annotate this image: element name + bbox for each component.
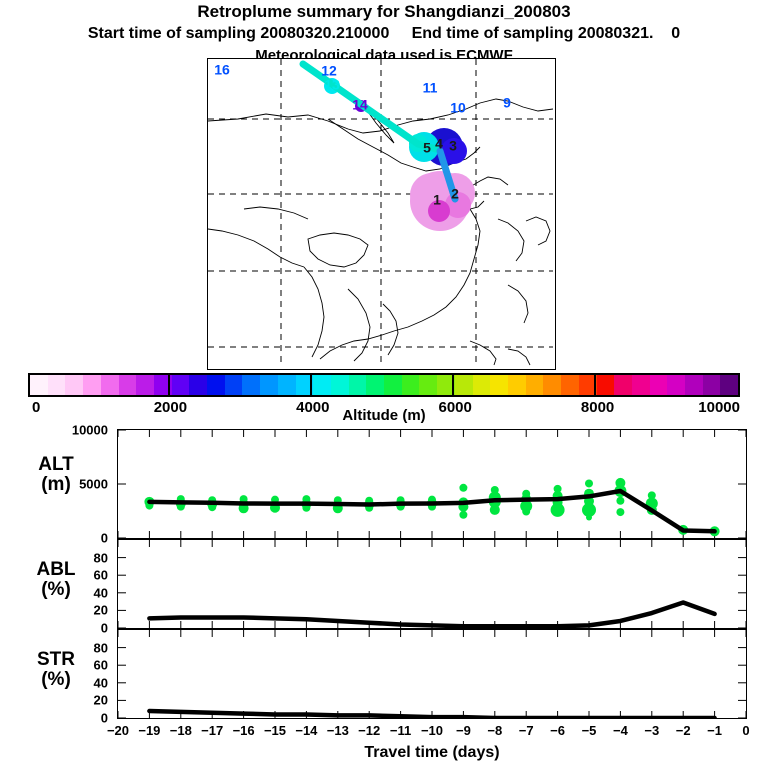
scatter-point: [551, 503, 565, 517]
colorbar-segment-0: [30, 375, 48, 395]
alt-ytick-0: 0: [62, 531, 108, 546]
colorbar-segment-33: [614, 375, 632, 395]
xtick--15: −15: [264, 723, 286, 738]
xtick--17: −17: [201, 723, 223, 738]
str-ytick-40: 40: [62, 675, 108, 690]
colorbar-sep: [168, 373, 170, 397]
scatter-point: [490, 505, 500, 515]
scatter-point: [586, 514, 592, 520]
map-marker-3[interactable]: 3: [449, 138, 457, 154]
scatter-point: [459, 511, 467, 519]
colorbar-segment-18: [349, 375, 367, 395]
xtick--16: −16: [233, 723, 255, 738]
xtick-0: 0: [742, 723, 749, 738]
colorbar-segment-3: [83, 375, 101, 395]
map-marker-14[interactable]: 14: [352, 97, 368, 113]
colorbar-segment-5: [119, 375, 137, 395]
map-marker-16[interactable]: 16: [214, 62, 230, 78]
alt-plot-panel[interactable]: [117, 429, 747, 539]
colorbar-segment-10: [207, 375, 225, 395]
colorbar-axis-label: Altitude (m): [0, 407, 768, 424]
colorbar-segment-2: [65, 375, 83, 395]
abl-ytick-0: 0: [62, 621, 108, 636]
scatter-point: [616, 497, 624, 505]
colorbar-segment-20: [384, 375, 402, 395]
str-ytick-0: 0: [62, 711, 108, 726]
page-title: Retroplume summary for Shangdianzi_20080…: [0, 2, 768, 22]
colorbar-gradient: [28, 373, 740, 397]
colorbar-segment-36: [667, 375, 685, 395]
map-marker-4[interactable]: 4: [435, 136, 443, 152]
scatter-point: [585, 479, 593, 487]
colorbar-segment-8: [172, 375, 190, 395]
colorbar-segment-34: [632, 375, 650, 395]
scatter-point: [616, 508, 624, 516]
colorbar-segment-26: [490, 375, 508, 395]
abl-ytick-20: 20: [62, 603, 108, 618]
colorbar-segment-16: [313, 375, 331, 395]
abl-ytick-60: 60: [62, 568, 108, 583]
xtick--2: −2: [676, 723, 691, 738]
colorbar-segment-13: [260, 375, 278, 395]
colorbar-segment-30: [561, 375, 579, 395]
xtick--20: −20: [107, 723, 129, 738]
xaxis-label: Travel time (days): [117, 744, 747, 762]
map-gridlines: [208, 59, 553, 367]
xtick--4: −4: [613, 723, 628, 738]
str-axis-ticks: [118, 630, 746, 718]
colorbar-segment-9: [189, 375, 207, 395]
abl-ytick-40: 40: [62, 585, 108, 600]
colorbar-sep: [594, 373, 596, 397]
colorbar-segment-14: [278, 375, 296, 395]
str-ytick-20: 20: [62, 693, 108, 708]
colorbar-segment-25: [473, 375, 491, 395]
colorbar-segment-29: [543, 375, 561, 395]
xtick--11: −11: [390, 723, 411, 738]
colorbar-sep: [310, 373, 312, 397]
map-marker-13[interactable]: 13: [324, 77, 340, 93]
str-ytick-60: 60: [62, 658, 108, 673]
map-marker-1[interactable]: 1: [433, 192, 441, 208]
abl-plot-panel[interactable]: [117, 539, 747, 629]
xtick--18: −18: [170, 723, 192, 738]
map-marker-9[interactable]: 9: [503, 95, 511, 111]
colorbar-segment-12: [242, 375, 260, 395]
colorbar-segment-6: [136, 375, 154, 395]
colorbar-segment-21: [402, 375, 420, 395]
xtick--1: −1: [707, 723, 722, 738]
xtick--3: −3: [644, 723, 659, 738]
colorbar-segment-22: [419, 375, 437, 395]
xtick--12: −12: [358, 723, 380, 738]
colorbar-segment-38: [703, 375, 721, 395]
map-marker-2[interactable]: 2: [451, 186, 459, 202]
map-marker-11[interactable]: 11: [423, 80, 438, 96]
xtick--14: −14: [295, 723, 317, 738]
xtick--19: −19: [138, 723, 160, 738]
alt-axis-ticks: [118, 430, 746, 538]
colorbar-segment-35: [650, 375, 668, 395]
str-ytick-80: 80: [62, 640, 108, 655]
alt-scatter-points: [144, 478, 719, 536]
map-marker-10[interactable]: 10: [450, 100, 466, 116]
xtick--10: −10: [421, 723, 443, 738]
colorbar-segment-4: [101, 375, 119, 395]
str-plot-panel[interactable]: [117, 629, 747, 719]
xtick--7: −7: [519, 723, 534, 738]
colorbar-segment-28: [526, 375, 544, 395]
colorbar-segment-24: [455, 375, 473, 395]
colorbar-segment-37: [685, 375, 703, 395]
colorbar-segment-11: [225, 375, 243, 395]
colorbar-segment-1: [48, 375, 66, 395]
xtick--6: −6: [550, 723, 565, 738]
sampling-times: Start time of sampling 20080320.210000 E…: [0, 25, 768, 43]
abl-ytick-80: 80: [62, 550, 108, 565]
scatter-point: [459, 484, 467, 492]
alt-ytick-5000: 5000: [62, 477, 108, 492]
retroplume-map[interactable]: 123459101112131416: [207, 58, 556, 370]
xtick--9: −9: [456, 723, 471, 738]
colorbar-segment-17: [331, 375, 349, 395]
alt-ytick-10000: 10000: [62, 423, 108, 438]
scatter-point: [522, 508, 530, 516]
colorbar-segment-19: [366, 375, 384, 395]
xtick--5: −5: [582, 723, 597, 738]
colorbar-sep: [452, 373, 454, 397]
map-marker-5[interactable]: 5: [423, 140, 431, 156]
colorbar-segment-27: [508, 375, 526, 395]
xtick--8: −8: [487, 723, 502, 738]
xtick--13: −13: [327, 723, 349, 738]
altitude-colorbar[interactable]: 0200040006000800010000: [28, 373, 740, 397]
colorbar-segment-39: [720, 375, 738, 395]
alt-label-line1: ALT: [8, 455, 104, 475]
colorbar-segment-32: [597, 375, 615, 395]
